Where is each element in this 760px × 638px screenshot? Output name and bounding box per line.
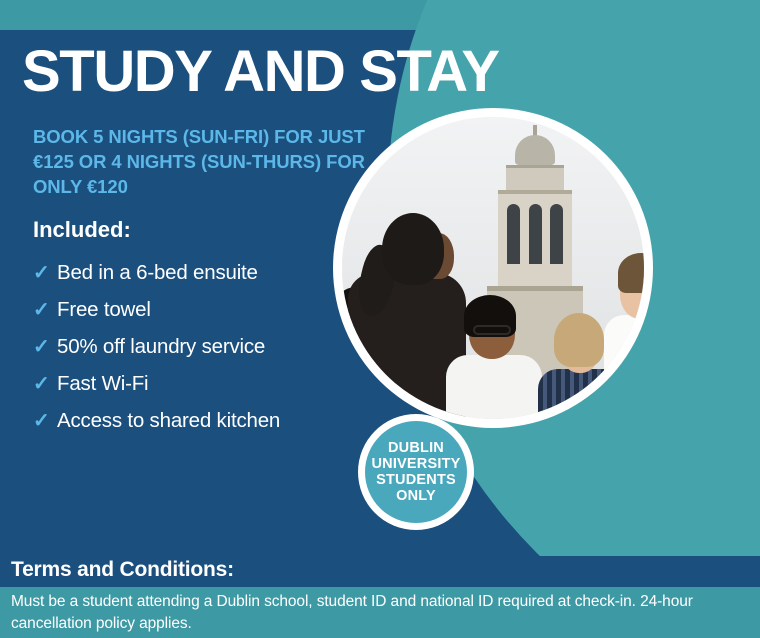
tower-dome	[515, 135, 555, 165]
belfry-arch	[507, 204, 520, 264]
promotional-poster: DUBLIN UNIVERSITY STUDENTS ONLY STUDY AN…	[0, 0, 760, 638]
page-title: STUDY AND STAY	[22, 42, 499, 102]
terms-body: Must be a student attending a Dublin sch…	[11, 591, 741, 635]
tower-belfry	[498, 190, 572, 286]
belfry-arch	[550, 204, 563, 264]
included-label: Included:	[33, 217, 131, 243]
students-only-badge: DUBLIN UNIVERSITY STUDENTS ONLY	[358, 414, 474, 530]
check-icon: ✓	[33, 300, 57, 320]
eyeglasses	[473, 325, 511, 335]
list-item: ✓ Bed in a 6-bed ensuite	[33, 254, 353, 291]
tower-drum	[506, 165, 564, 190]
list-item: ✓ Fast Wi-Fi	[33, 365, 353, 402]
white-tshirt	[604, 315, 644, 419]
list-item: ✓ Free towel	[33, 291, 353, 328]
list-item-label: Bed in a 6-bed ensuite	[57, 261, 258, 285]
badge-line-2: UNIVERSITY	[371, 456, 460, 472]
badge-line-1: DUBLIN	[388, 440, 444, 456]
offer-subheading: BOOK 5 NIGHTS (SUN-FRI) FOR JUST €125 OR…	[33, 124, 393, 199]
list-item-label: 50% off laundry service	[57, 335, 265, 359]
check-icon: ✓	[33, 411, 57, 431]
check-icon: ✓	[33, 374, 57, 394]
included-list: ✓ Bed in a 6-bed ensuite ✓ Free towel ✓ …	[33, 254, 353, 439]
check-icon: ✓	[33, 263, 57, 283]
list-item: ✓ 50% off laundry service	[33, 328, 353, 365]
list-item-label: Access to shared kitchen	[57, 409, 280, 433]
list-item-label: Free towel	[57, 298, 151, 322]
badge-line-4: ONLY	[396, 488, 436, 504]
list-item-label: Fast Wi-Fi	[57, 372, 148, 396]
badge-inner: DUBLIN UNIVERSITY STUDENTS ONLY	[365, 421, 467, 523]
belfry-arch	[529, 204, 542, 264]
list-item: ✓ Access to shared kitchen	[33, 402, 353, 439]
hair	[382, 213, 444, 285]
badge-line-3: STUDENTS	[376, 472, 456, 488]
check-icon: ✓	[33, 337, 57, 357]
hair	[554, 313, 604, 367]
terms-title: Terms and Conditions:	[11, 558, 234, 582]
white-tshirt	[446, 355, 542, 419]
